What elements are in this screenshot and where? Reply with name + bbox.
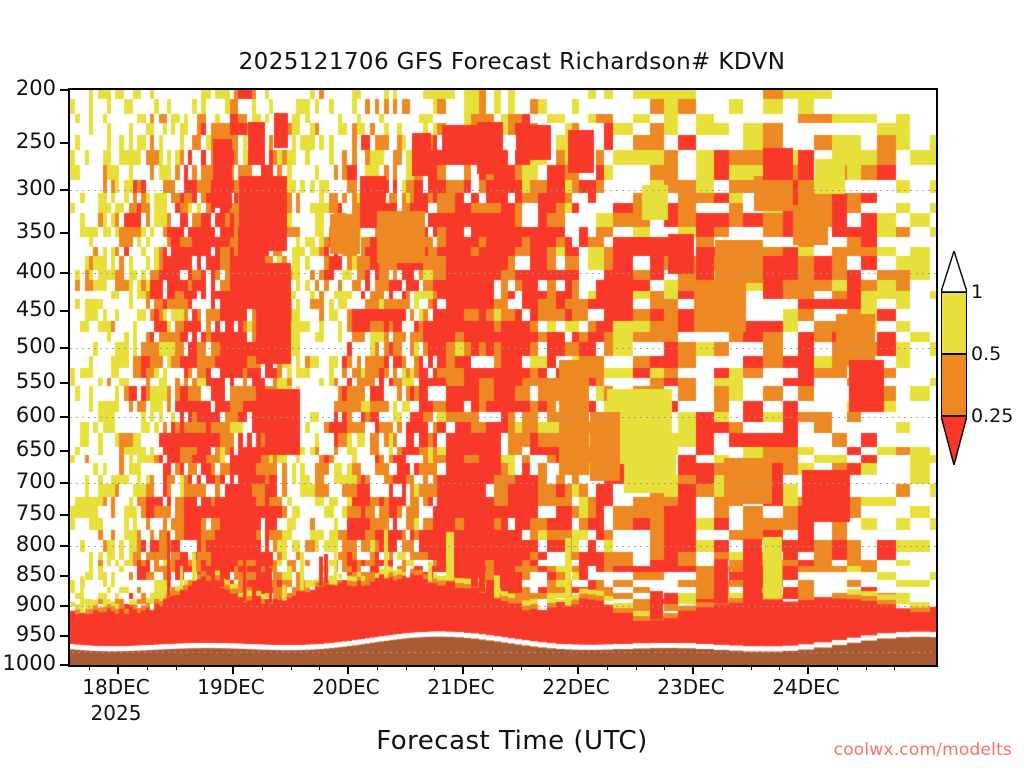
x-axis-year-label: 2025 xyxy=(82,701,149,725)
x-axis-label: 20DEC xyxy=(312,675,379,699)
y-axis-label: 650 xyxy=(16,437,56,461)
y-axis-label: 600 xyxy=(16,403,56,427)
y-axis-label: 950 xyxy=(16,622,56,646)
colorbar-tick-label: 1 xyxy=(971,281,983,303)
colorbar-segment xyxy=(941,292,967,354)
page-title: 2025121706 GFS Forecast Richardson# KDVN xyxy=(0,49,1024,75)
colorbar-tick-label: 0.25 xyxy=(971,405,1013,427)
y-axis-label: 900 xyxy=(16,592,56,616)
chart-page: 2025121706 GFS Forecast Richardson# KDVN… xyxy=(0,0,1024,768)
colorbar-tick-label: 0.5 xyxy=(971,343,1001,365)
colorbar-under-arrow xyxy=(941,416,967,465)
y-axis-label: 400 xyxy=(16,259,56,283)
heatmap-canvas xyxy=(70,90,936,665)
x-axis-label: 21DEC xyxy=(427,675,494,699)
y-axis-label: 200 xyxy=(16,76,56,100)
y-axis-label: 750 xyxy=(16,501,56,525)
x-axis-label: 19DEC xyxy=(197,675,264,699)
y-axis-label: 500 xyxy=(16,334,56,358)
colorbar-segment xyxy=(941,354,967,416)
x-axis-label: 23DEC xyxy=(657,675,724,699)
x-axis-label: 24DEC xyxy=(772,675,839,699)
watermark: coolwx.com/modelts xyxy=(834,740,1012,760)
y-axis-label: 800 xyxy=(16,532,56,556)
y-axis-labels: 2002503003504004505005506006507007508008… xyxy=(0,88,68,667)
x-axis-label: 18DEC2025 xyxy=(82,675,149,725)
y-axis-label: 300 xyxy=(16,176,56,200)
y-axis-label: 550 xyxy=(16,369,56,393)
y-axis-label: 700 xyxy=(16,469,56,493)
colorbar-legend: 10.50.25 xyxy=(941,292,967,464)
x-axis-label: 22DEC xyxy=(542,675,609,699)
x-axis-labels: 18DEC202519DEC20DEC21DEC22DEC23DEC24DEC xyxy=(0,667,1024,727)
y-axis-label: 350 xyxy=(16,219,56,243)
y-axis-label: 850 xyxy=(16,562,56,586)
y-axis-label: 450 xyxy=(16,297,56,321)
y-axis-label: 250 xyxy=(16,129,56,153)
plot-area xyxy=(68,88,938,667)
